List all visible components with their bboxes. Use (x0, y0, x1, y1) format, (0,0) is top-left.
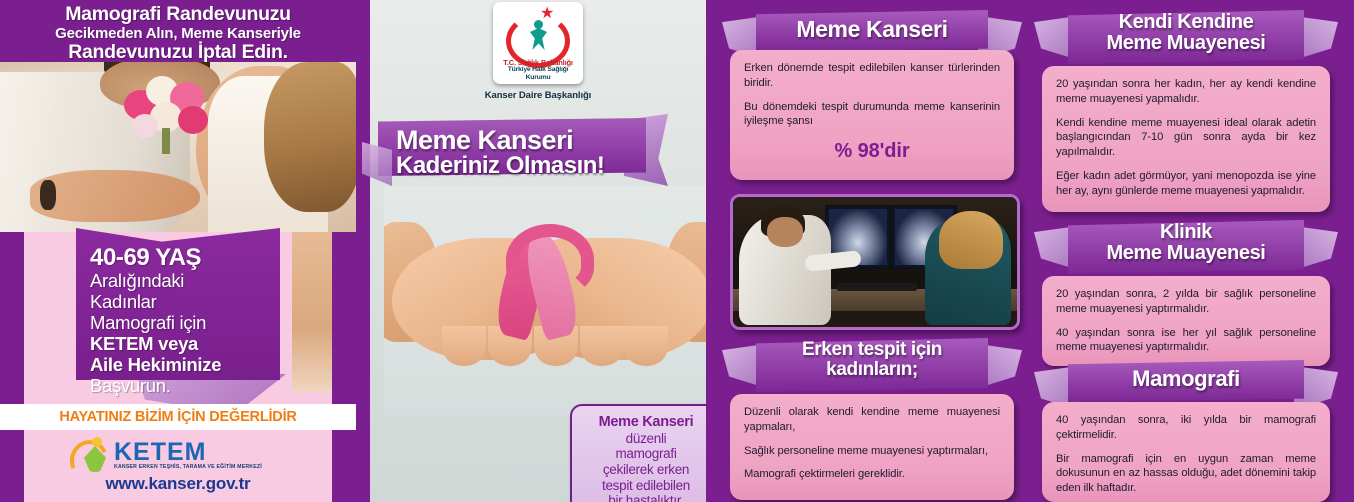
headline-line-3: Randevunuzu İptal Edin. (0, 41, 356, 64)
card-highlight-percentage: % 98'dir (744, 138, 1000, 164)
card-paragraph: Bir mamografi için en uygun zaman meme d… (1056, 452, 1316, 496)
card-paragraph: 40 yaşından sonra ise her yıl sağlık per… (1056, 326, 1316, 356)
card-paragraph: Düzenli olarak kendi kendine meme muayen… (744, 405, 1000, 435)
card-body: Erken dönemde tespit edilebilen kanser t… (730, 50, 1014, 180)
keyboard-shape (837, 283, 917, 291)
center-banner-line-1: Meme Kanseri (396, 126, 646, 154)
card-title-line-1: Kendi Kendine (1119, 11, 1254, 33)
ribbon-line-5: KETEM veya (90, 334, 276, 355)
card-title: Erken tespit için kadınların; (722, 340, 1022, 380)
card-title-line-1: Klinik (1160, 221, 1212, 243)
card-banner: Kendi Kendine Meme Muayenesi (1034, 8, 1338, 54)
headline-line-2: Gecikmeden Alın, Meme Kanseriyle (0, 25, 356, 42)
card-banner: Klinik Meme Muayenesi (1034, 218, 1338, 264)
ribbon-line-2: Aralığındaki (90, 271, 276, 292)
ministry-line-2: Türkiye Halk Sağlığı Kurumu (493, 66, 583, 81)
finger-shape (580, 326, 624, 366)
figure-body-icon (530, 28, 547, 50)
card-body: Düzenli olarak kendi kendine meme muayen… (730, 394, 1014, 500)
ministry-of-health-logo: ★ T.C. Sağlık Bakanlığı Türkiye Halk Sağ… (493, 2, 583, 84)
card-title-line-1: Erken tespit için (802, 339, 942, 360)
card-paragraph: Mamografi çektirmeleri gereklidir. (744, 467, 1000, 482)
card-title: Klinik Meme Muayenesi (1034, 222, 1338, 264)
card-title-line-2: Meme Muayenesi (1107, 32, 1266, 54)
card-paragraph: Bu dönemdeki tespit durumunda meme kanse… (744, 100, 1000, 130)
infographic-poster: Mamografi Randevunuzu Gecikmeden Alın, M… (0, 0, 1354, 502)
card-body: 20 yaşından sonra, 2 yılda bir sağlık pe… (1042, 276, 1330, 366)
hands-ribbon-photo (384, 186, 706, 416)
center-banner: Meme Kanseri Kaderiniz Olmasın! (356, 112, 692, 182)
ribbon-line-6: Aile Hekiminize (90, 355, 276, 376)
ribbon-line-7: Başvurun. (90, 376, 276, 397)
photo-shape (40, 180, 56, 210)
center-info-box: Meme Kanseri düzenli mamografi çekilerek… (570, 404, 706, 502)
left-headline-block: Mamografi Randevunuzu Gecikmeden Alın, M… (0, 0, 356, 62)
card-body: 20 yaşından sonra her kadın, her ay kend… (1042, 66, 1330, 212)
right-panel: Meme Kanseri Erken dönemde tespit edileb… (706, 0, 1354, 502)
ministry-line-2a: Türkiye Halk Sağlığı (508, 66, 569, 73)
left-panel: Mamografi Randevunuzu Gecikmeden Alın, M… (0, 0, 356, 502)
ribbon-line-4: Mamografi için (90, 313, 276, 334)
card-body: 40 yaşından sonra, iki yılda bir mamogra… (1042, 402, 1330, 502)
card-title: Mamografi (1034, 366, 1338, 392)
info-line-0: Meme Kanseri (582, 414, 706, 431)
card-title-line-2: kadınların; (826, 359, 918, 380)
figure-head-icon (534, 20, 543, 29)
bouquet-shape (120, 72, 228, 152)
ribbon-line-1: 40-69 YAŞ (90, 244, 276, 271)
human-figure-icon (525, 20, 551, 50)
ketem-logo-zone: KETEM KANSER ERKEN TEŞHİS, TARAMA VE EĞİ… (24, 430, 332, 502)
pink-band-edge-left (0, 232, 24, 502)
ketem-subtitle: KANSER ERKEN TEŞHİS, TARAMA VE EĞİTİM ME… (114, 464, 262, 470)
doctor-face-shape (767, 217, 803, 247)
age-range-ribbon-banner: 40-69 YAŞ Aralığındaki Kadınlar Mamograf… (76, 228, 280, 388)
center-inner-background: ★ T.C. Sağlık Bakanlığı Türkiye Halk Sağ… (370, 0, 706, 502)
card-banner: Mamografi (1034, 358, 1338, 404)
ketem-head-dot-icon (92, 437, 102, 447)
center-info-text: Meme Kanseri düzenli mamografi çekilerek… (582, 414, 706, 502)
website-url[interactable]: www.kanser.gov.tr (24, 474, 332, 494)
patient-hair-shape (939, 211, 1003, 269)
info-line-3: çekilerek erken (582, 462, 706, 478)
headline-line-1: Mamografi Randevunuzu (0, 3, 356, 26)
card-banner: Meme Kanseri (722, 8, 1022, 54)
ketem-logo: KETEM KANSER ERKEN TEŞHİS, TARAMA VE EĞİ… (68, 436, 288, 474)
center-banner-text: Meme Kanseri Kaderiniz Olmasın! (396, 126, 646, 179)
card-paragraph: Kendi kendine meme muayenesi ideal olara… (1056, 116, 1316, 160)
card-paragraph: Erken dönemde tespit edilebilen kanser t… (744, 61, 1000, 91)
card-paragraph: 20 yaşından sonra, 2 yılda bir sağlık pe… (1056, 287, 1316, 317)
card-paragraph: 20 yaşından sonra her kadın, her ay kend… (1056, 77, 1316, 107)
card-title: Meme Kanseri (722, 16, 1022, 43)
info-line-4: tespit edilebilen (582, 478, 706, 494)
photo-shape (292, 232, 332, 392)
department-caption: Kanser Daire Başkanlığı (370, 90, 706, 101)
pink-band-edge-right (332, 232, 356, 502)
finger-shape (624, 326, 668, 366)
card-paragraph: 40 yaşından sonra, iki yılda bir mamogra… (1056, 413, 1316, 443)
card-banner: Erken tespit için kadınların; (722, 336, 1022, 382)
pink-ribbon-icon (506, 224, 594, 296)
info-line-1: düzenli (582, 431, 706, 447)
center-panel: ★ T.C. Sağlık Bakanlığı Türkiye Halk Sağ… (356, 0, 706, 502)
finger-shape (442, 326, 486, 366)
ribbon-line-3: Kadınlar (90, 292, 276, 313)
card-title-line-2: Meme Muayenesi (1107, 242, 1266, 264)
card-paragraph: Eğer kadın adet görmüyor, yani menopozda… (1056, 169, 1316, 199)
center-banner-line-2: Kaderiniz Olmasın! (396, 154, 646, 179)
slogan-bar: HAYATINIZ BİZİM İÇİN DEĞERLİDİR (0, 404, 356, 430)
photo-shape (264, 62, 356, 212)
ribbon-text: 40-69 YAŞ Aralığındaki Kadınlar Mamograf… (90, 244, 276, 396)
info-line-2: mamografi (582, 446, 706, 462)
card-paragraph: Sağlık personeline meme muayenesi yaptır… (744, 444, 1000, 459)
info-line-5: bir hastalıktır. (582, 493, 706, 502)
couple-photo (0, 62, 356, 232)
card-title: Kendi Kendine Meme Muayenesi (1034, 12, 1338, 54)
ministry-line-2b: Kurumu (526, 74, 551, 81)
clinic-mammogram-photo (730, 194, 1020, 330)
slogan-text: HAYATINIZ BİZİM İÇİN DEĞERLİDİR (0, 404, 356, 430)
ketem-wordmark: KETEM (114, 438, 207, 467)
